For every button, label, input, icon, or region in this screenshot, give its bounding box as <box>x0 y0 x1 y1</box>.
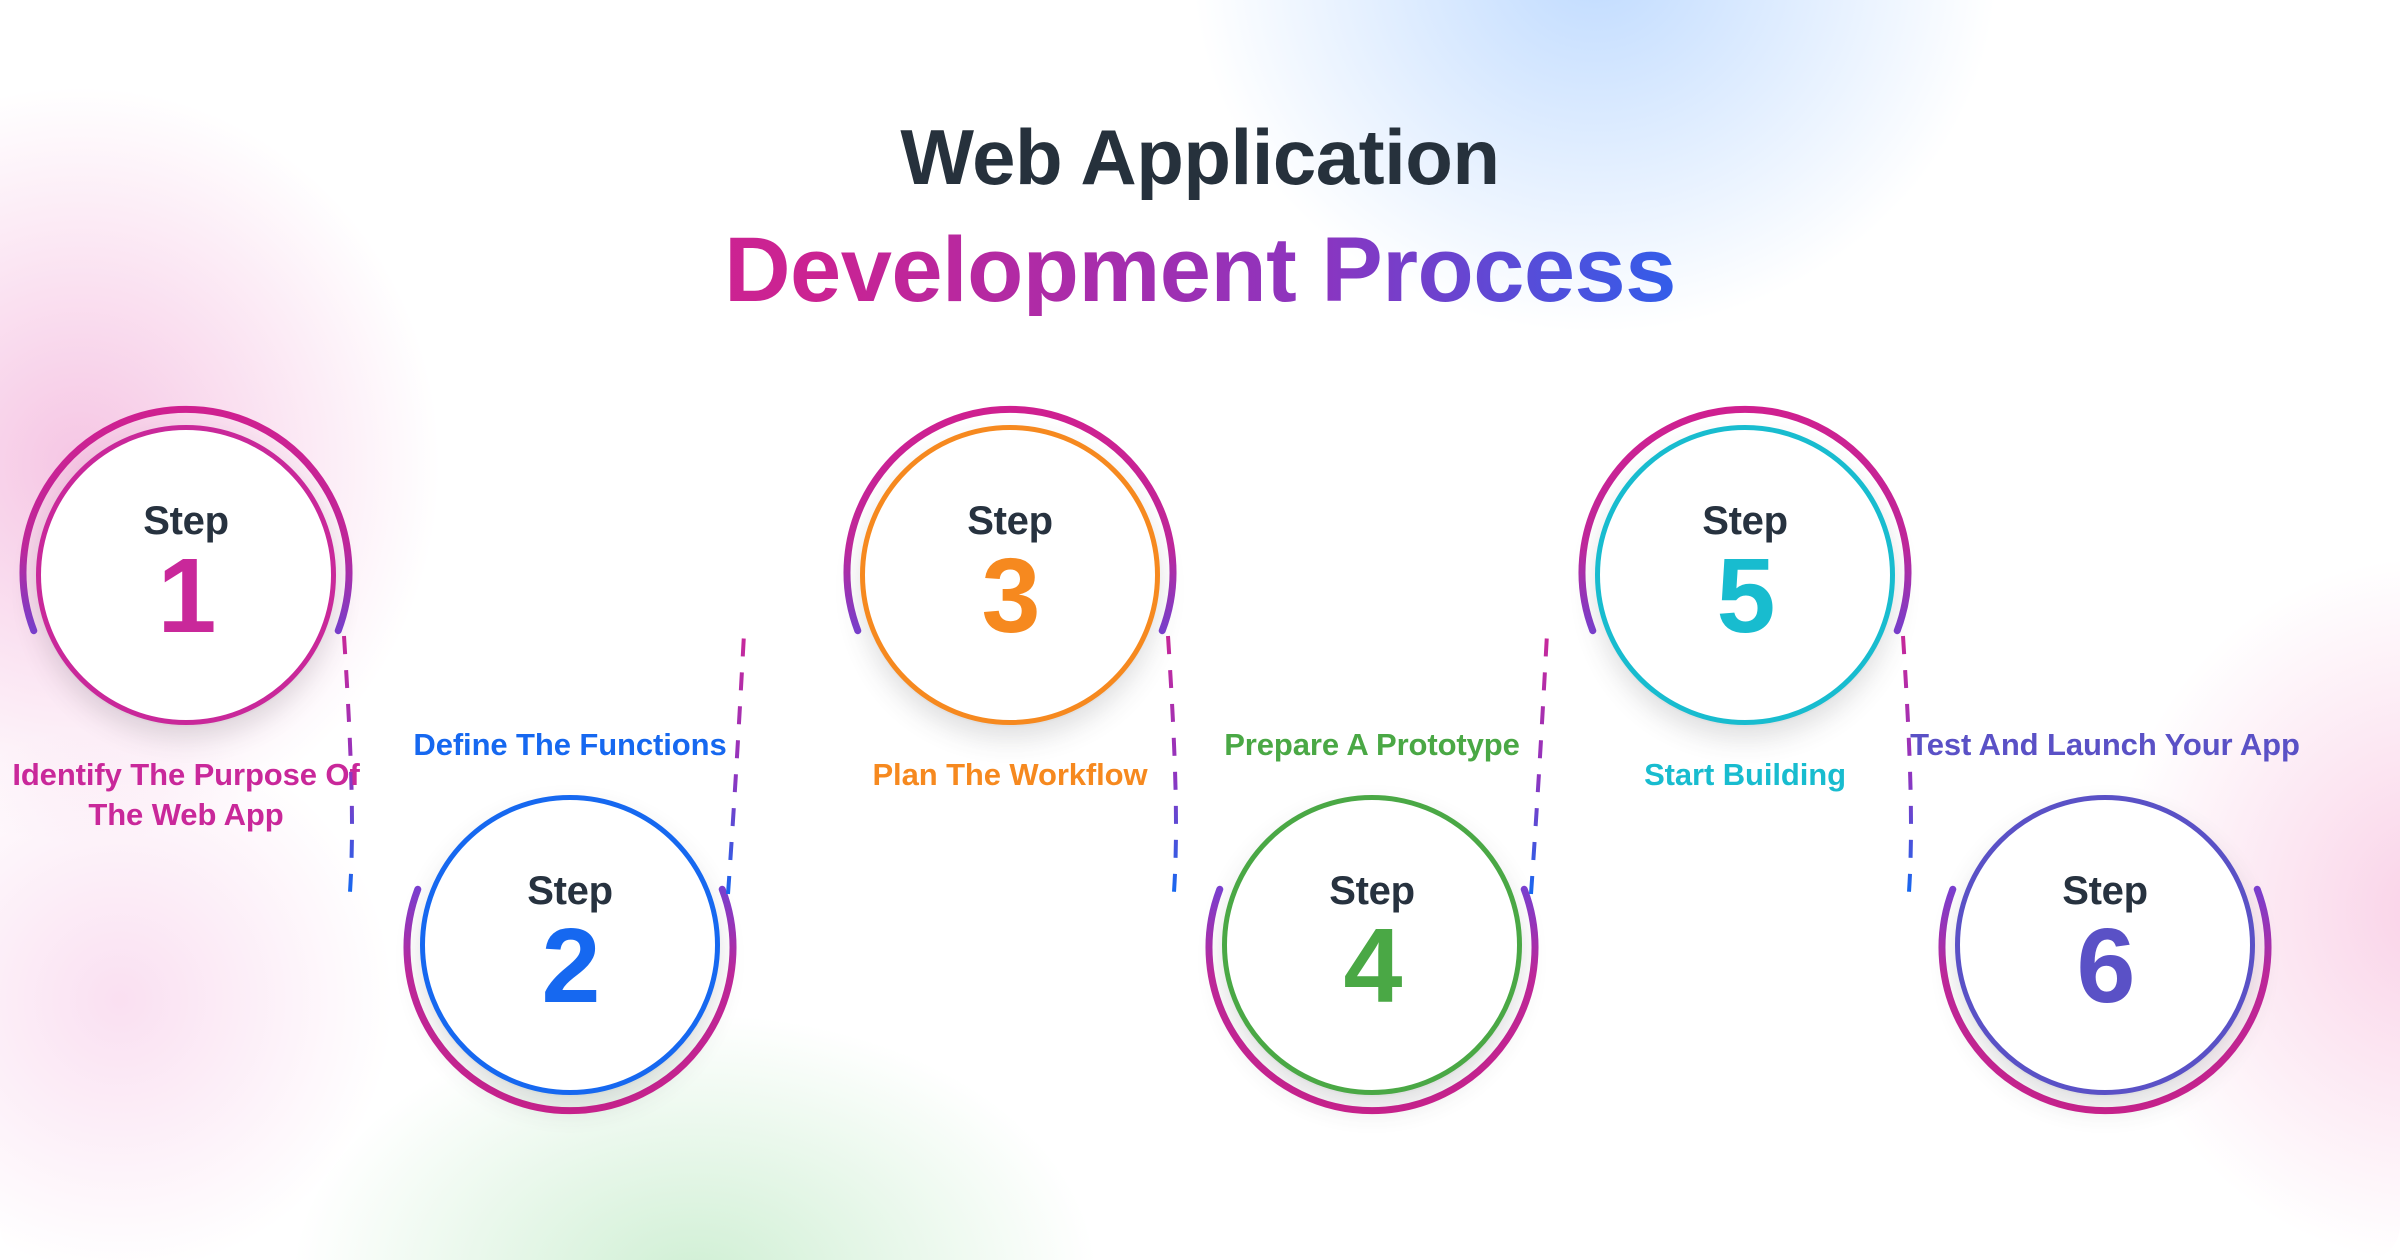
step-5-label: Start Building <box>1555 755 1935 795</box>
infographic-canvas: Web Application Development Process <box>0 0 2400 1260</box>
step-2-word: Step <box>527 871 612 911</box>
process-step-6[interactable]: Step 6 Test And Launch Your App <box>1955 795 2255 1095</box>
title-line-secondary: Development Process <box>0 224 2400 316</box>
step-1-circle[interactable]: Step 1 <box>36 425 336 725</box>
step-4-label: Prepare A Prototype <box>1182 725 1562 765</box>
step-6-word: Step <box>2062 871 2147 911</box>
step-4-circle[interactable]: Step 4 <box>1222 795 1522 1095</box>
step-3-number: 3 <box>982 543 1039 649</box>
step-3-label: Plan The Workflow <box>820 755 1200 795</box>
step-4-word: Step <box>1329 871 1414 911</box>
step-5-circle[interactable]: Step 5 <box>1595 425 1895 725</box>
process-step-4[interactable]: Step 4 Prepare A Prototype <box>1222 795 1522 1095</box>
process-step-5[interactable]: Step 5 Start Building <box>1595 425 1895 725</box>
step-3-word: Step <box>967 501 1052 541</box>
process-step-3[interactable]: Step 3 Plan The Workflow <box>860 425 1160 725</box>
step-6-label: Test And Launch Your App <box>1895 725 2315 765</box>
title-line-primary: Web Application <box>0 118 2400 196</box>
step-4-number: 4 <box>1344 913 1401 1019</box>
step-2-number: 2 <box>542 913 599 1019</box>
process-step-2[interactable]: Step 2 Define The Functions <box>420 795 720 1095</box>
process-step-1[interactable]: Step 1 Identify The Purpose Of The Web A… <box>36 425 336 725</box>
step-5-word: Step <box>1702 501 1787 541</box>
step-6-circle[interactable]: Step 6 <box>1955 795 2255 1095</box>
step-2-circle[interactable]: Step 2 <box>420 795 720 1095</box>
step-1-label: Identify The Purpose Of The Web App <box>0 755 378 834</box>
step-1-number: 1 <box>158 543 215 649</box>
page-title: Web Application Development Process <box>0 118 2400 316</box>
step-2-label: Define The Functions <box>380 725 760 765</box>
step-5-number: 5 <box>1717 543 1774 649</box>
step-1-word: Step <box>143 501 228 541</box>
step-6-number: 6 <box>2077 913 2134 1019</box>
step-3-circle[interactable]: Step 3 <box>860 425 1160 725</box>
